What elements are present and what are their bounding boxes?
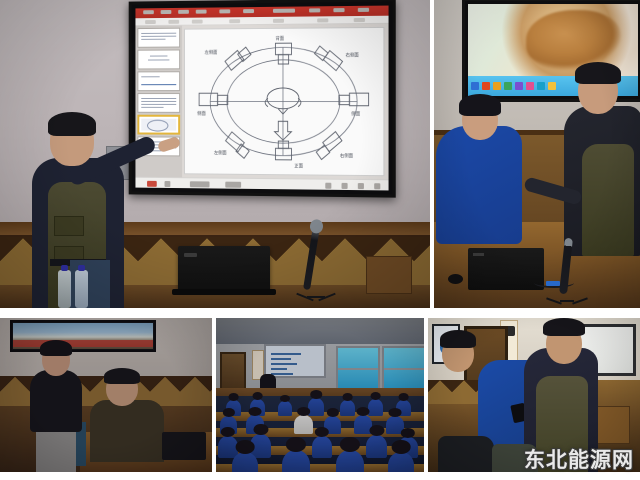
presenter-hair <box>48 112 96 136</box>
man-in-vest-garment <box>536 376 588 472</box>
taskbar-icon-app5[interactable] <box>526 82 534 90</box>
microphone-stand <box>296 288 336 298</box>
diagram-label-left: 侧面 <box>197 110 206 117</box>
classroom-window <box>336 346 380 390</box>
slide-editing-area[interactable]: 背面 左侧面 右侧面 侧面 侧面 左侧面 右侧面 正面 <box>182 24 388 179</box>
laptop-lid <box>468 248 544 290</box>
student-figure <box>368 399 383 416</box>
taskbar-icon-app4[interactable] <box>515 82 523 90</box>
slide-thumbnail[interactable] <box>137 71 180 91</box>
taskbar-icon-app1[interactable] <box>482 82 490 90</box>
powerpoint-body: 背面 左侧面 右侧面 侧面 侧面 左侧面 右侧面 正面 <box>135 24 388 179</box>
diagram-label-top-left: 左侧面 <box>205 49 218 56</box>
photo-collage: 背面 左侧面 右侧面 侧面 侧面 左侧面 右侧面 正面 <box>0 0 640 480</box>
classroom-window <box>382 346 424 390</box>
student-figure <box>340 400 355 416</box>
thinkpad-logo-icon <box>184 253 197 257</box>
diagram-label-top-right: 右侧面 <box>346 51 360 59</box>
collage-panel-presenter-pointing-at-projector: 背面 左侧面 右侧面 侧面 侧面 左侧面 右侧面 正面 <box>0 0 430 308</box>
usb-stick <box>546 281 560 286</box>
seated-man-hair <box>104 368 140 384</box>
taskbar-icon-app2[interactable] <box>493 82 501 90</box>
man-in-blue-hair <box>440 330 476 348</box>
student-figure <box>308 398 324 416</box>
projector-screen: 背面 左侧面 右侧面 侧面 侧面 左侧面 右侧面 正面 <box>129 0 396 198</box>
seated-man-torso <box>90 400 164 462</box>
collage-panel-classroom-audience <box>216 318 424 472</box>
student-figure-white-cap <box>294 415 313 434</box>
laptop-base <box>172 289 276 295</box>
diagram-label-bottom-right: 右侧面 <box>340 152 354 160</box>
taskbar-icon-start[interactable] <box>471 82 479 90</box>
standing-man-hair <box>40 340 72 356</box>
student-figure <box>312 436 332 458</box>
computer-mouse <box>448 274 463 284</box>
man-in-blue-hair <box>459 94 501 116</box>
chair <box>366 256 412 294</box>
classroom-seating-area <box>216 396 424 472</box>
slide-thumbnail-selected[interactable] <box>137 115 180 135</box>
shoulder-bag <box>492 444 538 472</box>
current-slide: 背面 左侧面 右侧面 侧面 侧面 左侧面 右侧面 正面 <box>184 27 384 176</box>
student-figure <box>366 435 387 458</box>
thinkpad-logo-icon <box>473 253 484 256</box>
senior-man-vest <box>582 144 634 256</box>
standing-man-figure <box>24 344 86 472</box>
laptop-lid <box>162 432 206 460</box>
man-in-vest-hair <box>543 318 585 336</box>
water-bottle <box>58 270 71 308</box>
diagram-label-bottom-left: 左侧面 <box>214 149 227 156</box>
collage-panel-man-standing-behind-seated-man <box>0 318 212 472</box>
taskbar-icon-app7[interactable] <box>548 82 556 90</box>
senior-man-hair <box>575 62 621 84</box>
slide-thumbnail[interactable] <box>137 93 180 113</box>
diagram-svg: 背面 左侧面 右侧面 侧面 侧面 左侧面 右侧面 正面 <box>190 33 378 170</box>
slide-thumbnail[interactable] <box>137 28 180 48</box>
student-figure <box>282 450 310 472</box>
collage-panel-two-men-at-laptop <box>434 0 640 308</box>
taskbar-icon-app3[interactable] <box>504 82 512 90</box>
circular-position-diagram: 背面 左侧面 右侧面 侧面 侧面 左侧面 右侧面 正面 <box>190 33 378 170</box>
student-figure <box>336 450 364 472</box>
microphone-tripod <box>546 290 588 302</box>
man-in-blue-uniform <box>436 126 522 244</box>
laptop-lid <box>178 246 270 290</box>
water-bottle <box>75 270 88 308</box>
standing-man-torso <box>30 370 82 432</box>
diagram-label-bottom: 正面 <box>294 163 303 169</box>
slide-thumbnail[interactable] <box>137 49 180 69</box>
student-figure <box>278 401 292 416</box>
powerpoint-status-bar <box>135 177 388 191</box>
seated-man-figure <box>86 370 172 462</box>
student-figure <box>388 452 414 472</box>
backpack <box>438 436 494 472</box>
student-figure <box>232 452 258 472</box>
taskbar-icon-app6[interactable] <box>537 82 545 90</box>
powerpoint-window: 背面 左侧面 右侧面 侧面 侧面 左侧面 右侧面 正面 <box>135 6 388 191</box>
wallpaper-hair-shape <box>526 10 621 70</box>
diagram-label-top: 背面 <box>275 35 284 42</box>
projector-screen <box>264 344 326 378</box>
standing-man-legs <box>36 428 76 472</box>
collage-panel-two-men-viewing-phone <box>428 318 640 472</box>
